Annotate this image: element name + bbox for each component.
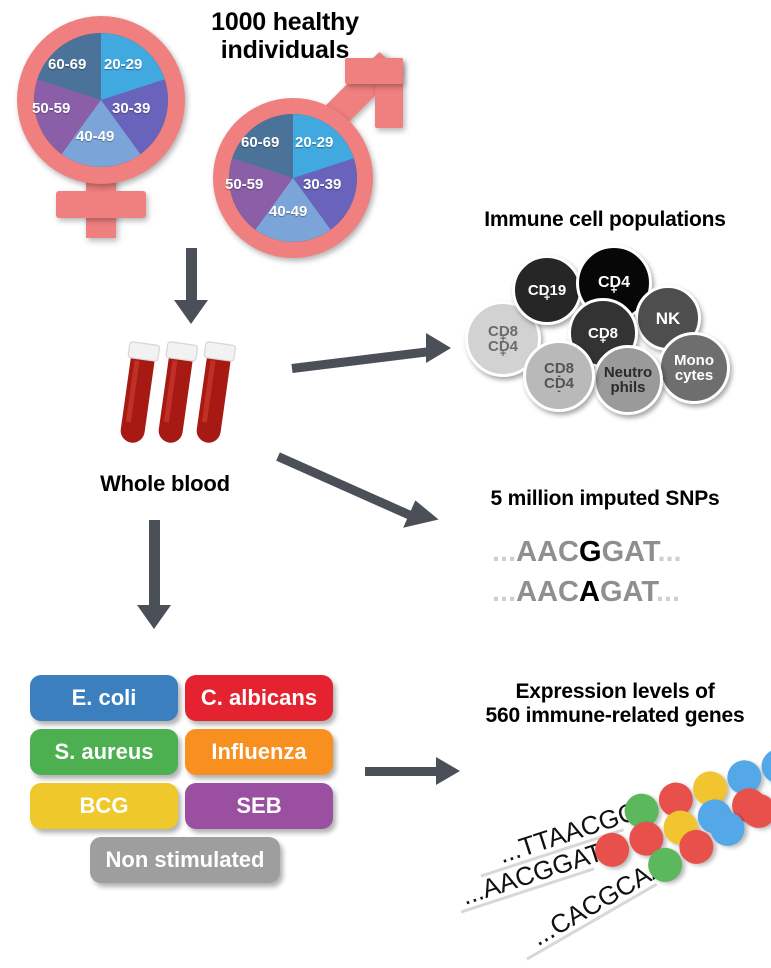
cell-neutrophils: Neutro phils (593, 345, 663, 415)
male-pie-label-20-29: 20-29 (295, 134, 333, 151)
cell-label-line1: CD8- (544, 361, 574, 376)
snp-variant-base: G (579, 536, 602, 568)
cell-monocytes: Mono cytes (658, 332, 730, 404)
stimuli-panel: E. coli C. albicans S. aureus Influenza … (30, 675, 350, 890)
stimulus-label: Non stimulated (106, 847, 265, 873)
female-gender-symbol: 20-29 30-39 40-49 50-59 60-69 (8, 8, 198, 238)
stimulus-non-stimulated[interactable]: Non stimulated (90, 837, 280, 883)
stimulus-influenza[interactable]: Influenza (185, 729, 333, 775)
snp-trailing-dots: ... (657, 536, 681, 568)
whole-blood-label: Whole blood (75, 472, 255, 497)
snp-suffix: GAT (600, 576, 656, 608)
cell-label: NK (656, 310, 681, 327)
gene-strands-group: ...TTAACGG ...AACGGAT ...CACGCAA (460, 735, 771, 915)
immune-cell-cluster: CD8+ CD4+ CD19+ CD4+ NK CD8+ Mono cytes … (455, 240, 755, 415)
snp-prefix: AAC (516, 536, 579, 568)
immune-section-title: Immune cell populations (440, 208, 770, 232)
cell-label-line2: phils (610, 380, 645, 395)
stimulus-e-coli[interactable]: E. coli (30, 675, 178, 721)
cell-label-line2: CD4- (544, 376, 574, 391)
genes-section-title: Expression levels of 560 immune-related … (460, 680, 770, 727)
male-pie-label-30-39: 30-39 (303, 176, 341, 193)
blood-tubes-icon (105, 335, 245, 465)
cell-label: CD4+ (598, 275, 630, 291)
male-pie-label-60-69: 60-69 (241, 134, 279, 151)
stimulus-seb[interactable]: SEB (185, 783, 333, 829)
cohort-title-text: 1000 healthy individuals (211, 8, 359, 64)
male-gender-symbol: 20-29 30-39 40-49 50-59 60-69 (205, 72, 415, 252)
cell-label: CD8+ (588, 326, 618, 341)
female-pie-label-60-69: 60-69 (48, 56, 86, 73)
snp-section-title: 5 million imputed SNPs (440, 487, 770, 511)
male-pie-label-40-49: 40-49 (269, 203, 307, 220)
cell-cd19pos: CD19+ (512, 255, 582, 325)
stimulus-s-aureus[interactable]: S. aureus (30, 729, 178, 775)
cell-label-line1: CD8+ (488, 324, 518, 339)
female-pie-label-20-29: 20-29 (104, 56, 142, 73)
female-stem-crossbar (56, 191, 146, 218)
stimulus-c-albicans[interactable]: C. albicans (185, 675, 333, 721)
genes-title-line1: Expression levels of (460, 680, 770, 704)
snp-leading-dots: ... (492, 576, 516, 608)
male-arrow-head-horizontal (345, 58, 403, 84)
genes-title-line2: 560 immune-related genes (460, 704, 770, 728)
cell-label-line1: Neutro (604, 365, 652, 380)
snp-sequence-row-1: ...AACGGAT... (492, 536, 682, 569)
stimulus-label: SEB (236, 793, 281, 819)
immune-section-title-text: Immune cell populations (484, 208, 726, 231)
diagram-canvas: 1000 healthy individuals 20-29 30-39 40-… (0, 0, 771, 922)
snp-variant-base: A (579, 576, 600, 608)
snp-section-title-text: 5 million imputed SNPs (491, 487, 720, 510)
cell-cd8neg-cd4neg: CD8- CD4- (523, 340, 595, 412)
snp-trailing-dots: ... (656, 576, 680, 608)
stimulus-bcg[interactable]: BCG (30, 783, 178, 829)
snp-prefix: AAC (516, 576, 579, 608)
female-pie-label-40-49: 40-49 (76, 128, 114, 145)
cell-label-line2: cytes (675, 368, 713, 383)
whole-blood-label-text: Whole blood (100, 471, 230, 496)
female-pie-label-30-39: 30-39 (112, 100, 150, 117)
cell-label-line2: CD4+ (488, 339, 518, 354)
stimulus-label: E. coli (72, 685, 137, 711)
snp-suffix: GAT (602, 536, 658, 568)
stimulus-label: Influenza (211, 739, 306, 765)
cell-label-line1: Mono (674, 353, 714, 368)
cell-label: CD19+ (528, 283, 566, 298)
female-pie-label-50-59: 50-59 (32, 100, 70, 117)
stimulus-label: BCG (80, 793, 129, 819)
male-pie-label-50-59: 50-59 (225, 176, 263, 193)
blood-tubes-svg (105, 335, 245, 465)
stimulus-label: S. aureus (54, 739, 153, 765)
snp-leading-dots: ... (492, 536, 516, 568)
stimulus-label: C. albicans (201, 685, 317, 711)
snp-sequence-row-2: ...AACAGAT... (492, 576, 680, 609)
